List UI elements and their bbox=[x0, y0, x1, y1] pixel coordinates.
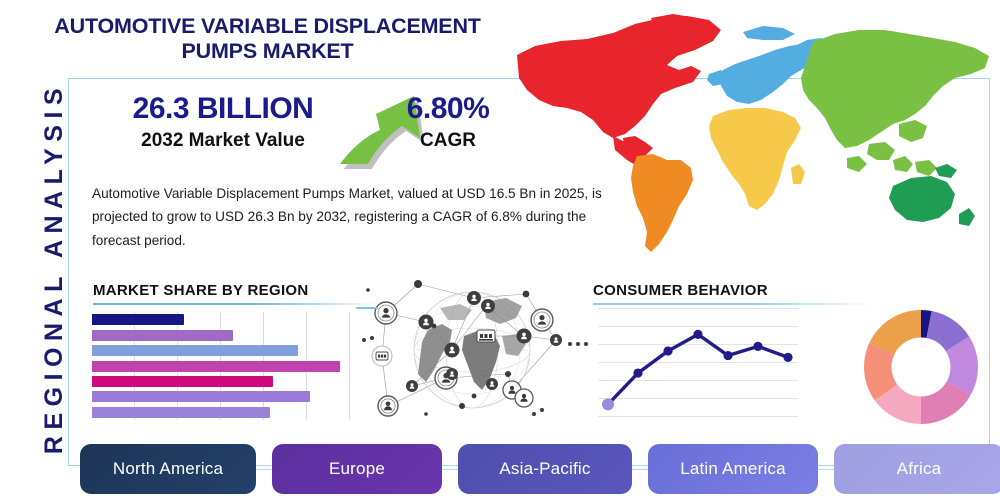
region-button-asia-pacific[interactable]: Asia-Pacific bbox=[458, 444, 632, 494]
bar-4 bbox=[92, 361, 340, 372]
region-connector bbox=[256, 469, 272, 470]
line-series bbox=[598, 306, 798, 418]
kpi-block: 26.3 BILLION 2032 Market Value 6.80% CAG… bbox=[88, 92, 508, 170]
page-title: Automotive Variable Displacement Pumps M… bbox=[40, 14, 495, 65]
bar-2 bbox=[92, 330, 233, 341]
region-button-africa[interactable]: Africa bbox=[834, 444, 1000, 494]
bar-row bbox=[92, 314, 350, 325]
consumer-behavior-heading: Consumer Behavior bbox=[593, 282, 768, 303]
bar-7 bbox=[92, 407, 270, 418]
regional-analysis-label: REGIONAL ANALYSIS bbox=[32, 68, 76, 468]
bar-5 bbox=[92, 376, 273, 387]
market-share-underline bbox=[93, 303, 381, 305]
cagr-figure: 6.80% bbox=[378, 92, 518, 126]
bar-row bbox=[92, 330, 350, 341]
bar-row bbox=[92, 361, 350, 372]
market-share-bar-chart bbox=[92, 312, 350, 420]
region-button-north-america[interactable]: North America bbox=[80, 444, 256, 494]
cagr-caption: CAGR bbox=[378, 130, 518, 152]
bar-row bbox=[92, 407, 350, 418]
market-value-figure: 26.3 BILLION bbox=[108, 92, 338, 126]
line-point-1 bbox=[602, 398, 614, 410]
bar-row bbox=[92, 391, 350, 402]
region-connector bbox=[632, 469, 648, 470]
region-connector bbox=[442, 469, 458, 470]
line-point-3 bbox=[663, 346, 672, 355]
bar-1 bbox=[92, 314, 184, 325]
region-button-row: North AmericaEuropeAsia-PacificLatin Ame… bbox=[80, 443, 992, 495]
line-point-6 bbox=[753, 342, 762, 351]
bar-row bbox=[92, 376, 350, 387]
region-button-europe[interactable]: Europe bbox=[272, 444, 442, 494]
market-value-caption: 2032 Market Value bbox=[98, 130, 348, 152]
consumer-behavior-underline bbox=[593, 303, 875, 305]
line-point-4 bbox=[693, 330, 702, 339]
bar-3 bbox=[92, 345, 298, 356]
globe-network-icon bbox=[356, 278, 592, 428]
consumer-behavior-donut-chart bbox=[862, 308, 980, 426]
consumer-behavior-line-chart bbox=[598, 306, 798, 418]
bar-row bbox=[92, 345, 350, 356]
market-summary-text: Automotive Variable Displacement Pumps M… bbox=[92, 182, 602, 252]
line-point-5 bbox=[723, 351, 732, 360]
region-button-latin-america[interactable]: Latin America bbox=[648, 444, 818, 494]
bar-6 bbox=[92, 391, 310, 402]
infographic-root: REGIONAL ANALYSIS Automotive Variable Di… bbox=[0, 0, 1000, 500]
region-connector bbox=[818, 469, 834, 470]
line-point-2 bbox=[633, 368, 642, 377]
line-point-7 bbox=[783, 353, 792, 362]
market-share-heading: Market Share by Region bbox=[93, 282, 309, 303]
